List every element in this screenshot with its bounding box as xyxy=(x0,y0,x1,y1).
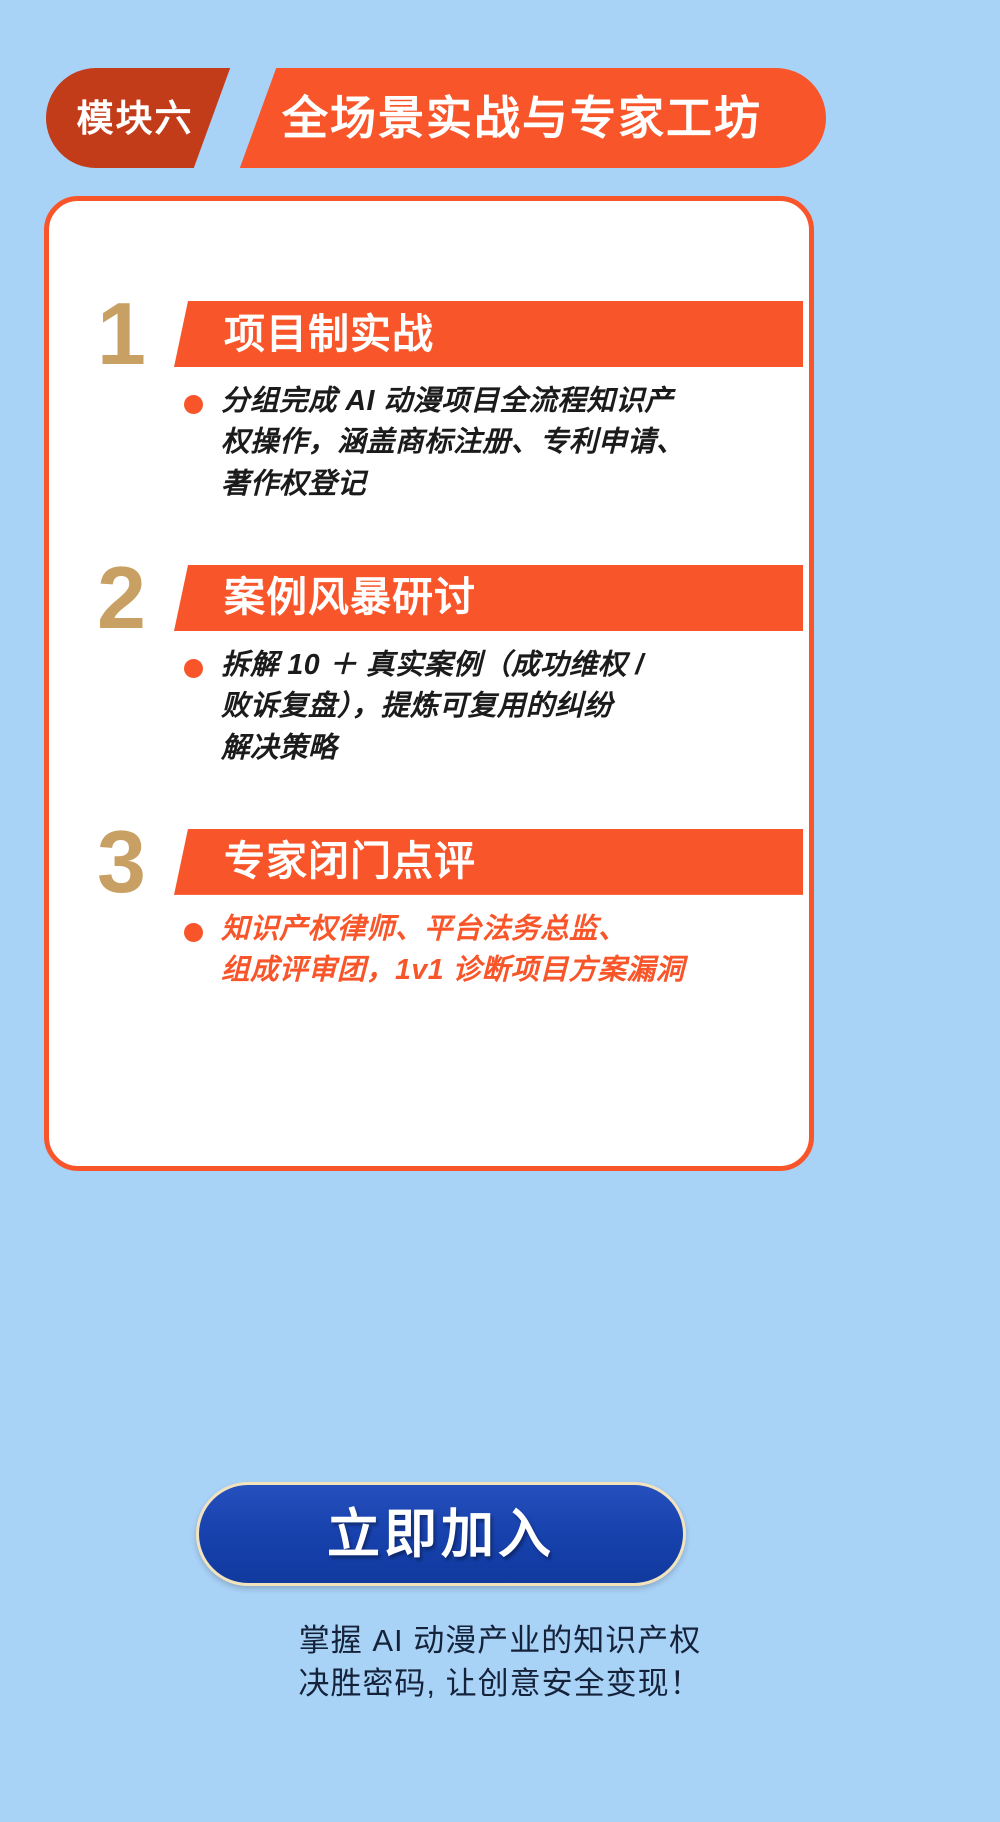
section-body: 分组完成 AI 动漫项目全流程知识产 权操作，涵盖商标注册、专利申请、 著作权登… xyxy=(49,381,809,505)
section-number: 1 xyxy=(97,290,146,378)
section-body: 知识产权律师、平台法务总监、 组成评审团，1v1 诊断项目方案漏洞 xyxy=(49,909,809,992)
section-title-bar: 项目制实战 xyxy=(174,301,803,367)
footer-tagline-line-1: 掌握 AI 动漫产业的知识产权 xyxy=(0,1620,1000,1663)
section-header-row: 2 案例风暴研讨 xyxy=(49,565,809,631)
section-body: 拆解 10 ＋ 真实案例（成功维权 / 败诉复盘），提炼可复用的纠纷 解决策略 xyxy=(49,645,809,769)
join-now-button-label: 立即加入 xyxy=(327,1508,555,1561)
section-header-row: 3 专家闭门点评 xyxy=(49,829,809,895)
section-title: 案例风暴研讨 xyxy=(224,577,476,618)
section-title: 专家闭门点评 xyxy=(224,841,476,882)
footer-tagline-line-2: 决胜密码, 让创意安全变现！ xyxy=(0,1663,1000,1706)
join-now-button[interactable]: 立即加入 xyxy=(196,1482,686,1586)
module-title-bar: 全场景实战与专家工坊 xyxy=(232,68,826,168)
section-title: 项目制实战 xyxy=(224,314,434,355)
module-title: 全场景实战与专家工坊 xyxy=(282,95,762,141)
module-header-banner: 模块六 全场景实战与专家工坊 xyxy=(46,68,826,168)
section-item: 3 专家闭门点评 知识产权律师、平台法务总监、 组成评审团，1v1 诊断项目方案… xyxy=(49,829,809,992)
footer-tagline: 掌握 AI 动漫产业的知识产权 决胜密码, 让创意安全变现！ xyxy=(0,1620,1000,1706)
section-title-bar: 专家闭门点评 xyxy=(174,829,803,895)
section-body-text: 分组完成 AI 动漫项目全流程知识产 权操作，涵盖商标注册、专利申请、 著作权登… xyxy=(221,381,769,505)
content-card: 1 项目制实战 分组完成 AI 动漫项目全流程知识产 权操作，涵盖商标注册、专利… xyxy=(44,196,814,1171)
section-item: 2 案例风暴研讨 拆解 10 ＋ 真实案例（成功维权 / 败诉复盘），提炼可复用… xyxy=(49,565,809,769)
section-header-row: 1 项目制实战 xyxy=(49,301,809,367)
section-list: 1 项目制实战 分组完成 AI 动漫项目全流程知识产 权操作，涵盖商标注册、专利… xyxy=(49,201,809,992)
bullet-dot-icon xyxy=(184,395,203,414)
section-item: 1 项目制实战 分组完成 AI 动漫项目全流程知识产 权操作，涵盖商标注册、专利… xyxy=(49,301,809,505)
section-title-bar: 案例风暴研讨 xyxy=(174,565,803,631)
section-number: 3 xyxy=(97,818,146,906)
section-number: 2 xyxy=(97,554,146,642)
section-body-text: 知识产权律师、平台法务总监、 组成评审团，1v1 诊断项目方案漏洞 xyxy=(221,909,769,992)
bullet-dot-icon xyxy=(184,659,203,678)
bullet-dot-icon xyxy=(184,923,203,942)
section-body-text: 拆解 10 ＋ 真实案例（成功维权 / 败诉复盘），提炼可复用的纠纷 解决策略 xyxy=(221,645,769,769)
module-badge-label: 模块六 xyxy=(77,100,194,137)
